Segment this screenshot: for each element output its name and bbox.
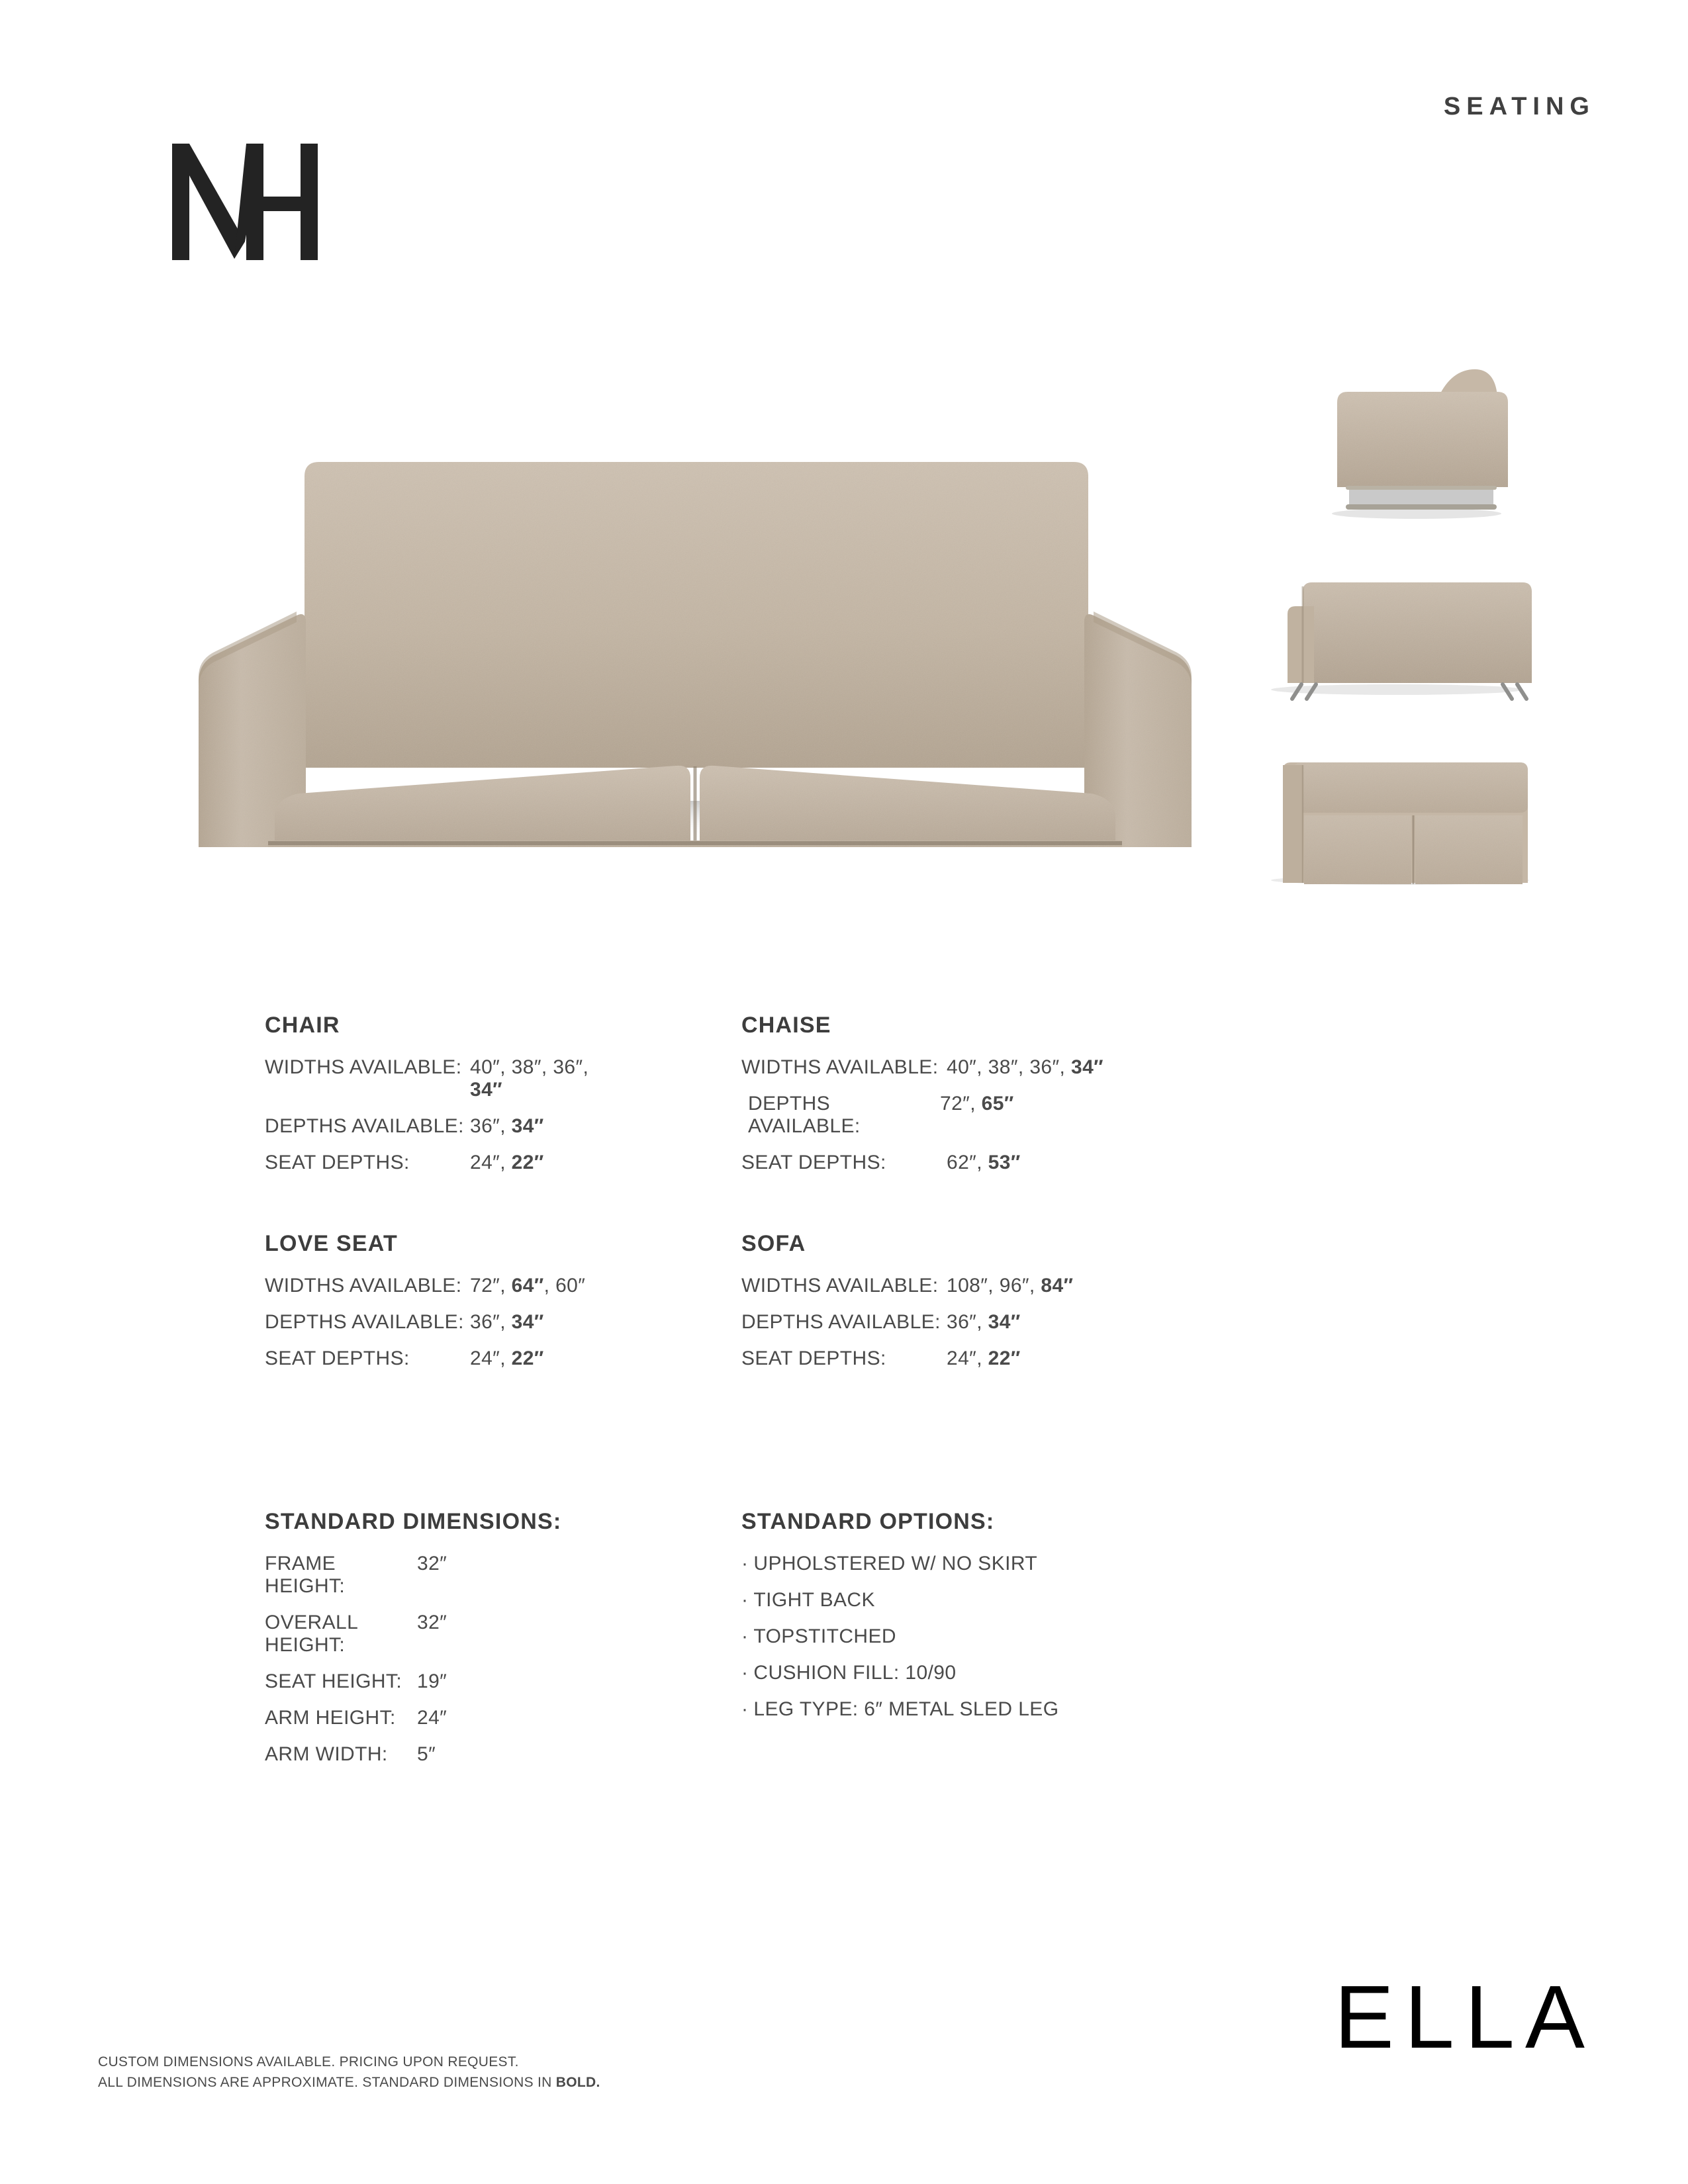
- spec-value: 24″, 22″: [947, 1347, 1021, 1370]
- spec-label: SEAT DEPTHS:: [265, 1347, 470, 1370]
- spec-label: WIDTHS AVAILABLE:: [265, 1275, 470, 1297]
- spec-value: 108″, 96″, 84″: [947, 1275, 1073, 1297]
- thumbnail-top-view: [1244, 721, 1542, 887]
- spec-label: SEAT DEPTHS:: [741, 1347, 947, 1370]
- spec-label: WIDTHS AVAILABLE:: [741, 1056, 947, 1079]
- spec-value: 62″, 53″: [947, 1152, 1021, 1174]
- spec-row: DEPTHS AVAILABLE: 36″, 34″: [265, 1115, 626, 1138]
- spec-label: SEAT DEPTHS:: [265, 1152, 470, 1174]
- spec-label: DEPTHS AVAILABLE:: [265, 1115, 470, 1138]
- dimension-row: SEAT HEIGHT: 19″: [265, 1670, 626, 1693]
- spec-value: 36″, 34″: [470, 1311, 544, 1334]
- spec-row: WIDTHS AVAILABLE: 108″, 96″, 84″: [741, 1275, 1443, 1297]
- option-row: ·TOPSTITCHED: [741, 1625, 1443, 1648]
- spec-row: WIDTHS AVAILABLE: 72″, 64″, 60″: [265, 1275, 626, 1297]
- product-wordmark: ELLA: [1335, 1972, 1595, 2062]
- dimension-value: 24″: [417, 1707, 447, 1729]
- spec-value: 40″, 38″, 36″, 34″: [947, 1056, 1103, 1079]
- spec-value: 72″, 65″: [940, 1093, 1014, 1115]
- disclaimer-text: CUSTOM DIMENSIONS AVAILABLE. PRICING UPO…: [98, 2052, 600, 2093]
- spec-value: 24″, 22″: [470, 1347, 544, 1370]
- spec-label: WIDTHS AVAILABLE:: [741, 1275, 947, 1297]
- hero-product-image: [169, 384, 1228, 847]
- option-label: UPHOLSTERED W/ NO SKIRT: [753, 1553, 1037, 1574]
- bullet-icon: ·: [741, 1662, 748, 1684]
- dimension-label: ARM WIDTH:: [265, 1743, 417, 1766]
- spec-row: SEAT DEPTHS: 62″, 53″: [741, 1152, 1443, 1174]
- spec-block-chair: CHAIR WIDTHS AVAILABLE: 40″, 38″, 36″, 3…: [265, 1013, 626, 1174]
- spec-value: 36″, 34″: [470, 1115, 544, 1138]
- bullet-icon: ·: [741, 1698, 748, 1720]
- thumbnail-side-view: [1251, 331, 1529, 523]
- spec-row: DEPTHS AVAILABLE: 72″, 65″: [741, 1093, 1443, 1138]
- spec-title: SOFA: [741, 1231, 1443, 1257]
- spec-label: DEPTHS AVAILABLE:: [741, 1311, 947, 1334]
- spec-block-sofa: SOFA WIDTHS AVAILABLE: 108″, 96″, 84″ DE…: [741, 1231, 1443, 1370]
- dimension-label: FRAME HEIGHT:: [265, 1553, 417, 1598]
- spec-value: 40″, 38″, 36″, 34″: [470, 1056, 626, 1101]
- spec-row: DEPTHS AVAILABLE: 36″, 34″: [265, 1311, 626, 1334]
- dimension-value: 32″: [417, 1553, 447, 1575]
- lower-section: STANDARD DIMENSIONS: FRAME HEIGHT: 32″ O…: [265, 1509, 1443, 1780]
- spec-title: CHAIR: [265, 1013, 626, 1038]
- spec-row: DEPTHS AVAILABLE: 36″, 34″: [741, 1311, 1443, 1334]
- standard-dimensions-title: STANDARD DIMENSIONS:: [265, 1509, 626, 1535]
- thumbnail-back-view: [1244, 536, 1536, 702]
- specifications-section: CHAIR WIDTHS AVAILABLE: 40″, 38″, 36″, 3…: [265, 1013, 1443, 1370]
- option-row: ·CUSHION FILL: 10/90: [741, 1662, 1443, 1684]
- disclaimer-line-2: ALL DIMENSIONS ARE APPROXIMATE. STANDARD…: [98, 2073, 600, 2093]
- dimension-label: ARM HEIGHT:: [265, 1707, 417, 1729]
- option-row: ·UPHOLSTERED W/ NO SKIRT: [741, 1553, 1443, 1575]
- spec-label: DEPTHS AVAILABLE:: [265, 1311, 470, 1334]
- spec-row: SEAT DEPTHS: 24″, 22″: [741, 1347, 1443, 1370]
- spec-value: 24″, 22″: [470, 1152, 544, 1174]
- option-label: TOPSTITCHED: [753, 1625, 896, 1647]
- option-row: ·LEG TYPE: 6″ METAL SLED LEG: [741, 1698, 1443, 1721]
- option-label: CUSHION FILL: 10/90: [753, 1662, 956, 1684]
- dimension-row: OVERALL HEIGHT: 32″: [265, 1612, 626, 1657]
- dimension-row: FRAME HEIGHT: 32″: [265, 1553, 626, 1598]
- spec-row: WIDTHS AVAILABLE: 40″, 38″, 36″, 34″: [265, 1056, 626, 1101]
- option-label: LEG TYPE: 6″ METAL SLED LEG: [753, 1698, 1058, 1720]
- spec-block-love-seat: LOVE SEAT WIDTHS AVAILABLE: 72″, 64″, 60…: [265, 1231, 626, 1370]
- spec-title: LOVE SEAT: [265, 1231, 626, 1257]
- dimension-value: 32″: [417, 1612, 447, 1634]
- spec-value: 36″, 34″: [947, 1311, 1021, 1334]
- bullet-icon: ·: [741, 1625, 748, 1647]
- spec-label: WIDTHS AVAILABLE:: [265, 1056, 470, 1079]
- option-label: TIGHT BACK: [753, 1589, 874, 1611]
- spec-label: DEPTHS AVAILABLE:: [741, 1093, 940, 1138]
- dimension-row: ARM HEIGHT: 24″: [265, 1707, 626, 1729]
- spec-value: 72″, 64″, 60″: [470, 1275, 585, 1297]
- spec-row: SEAT DEPTHS: 24″, 22″: [265, 1347, 626, 1370]
- standard-options-title: STANDARD OPTIONS:: [741, 1509, 1443, 1535]
- option-row: ·TIGHT BACK: [741, 1589, 1443, 1612]
- dimension-label: SEAT HEIGHT:: [265, 1670, 417, 1693]
- dimension-value: 5″: [417, 1743, 436, 1766]
- dimension-label: OVERALL HEIGHT:: [265, 1612, 417, 1657]
- spec-row: SEAT DEPTHS: 24″, 22″: [265, 1152, 626, 1174]
- bullet-icon: ·: [741, 1553, 748, 1574]
- spec-block-chaise: CHAISE WIDTHS AVAILABLE: 40″, 38″, 36″, …: [741, 1013, 1443, 1174]
- bullet-icon: ·: [741, 1589, 748, 1611]
- spec-title: CHAISE: [741, 1013, 1443, 1038]
- page-category-label: SEATING: [1444, 93, 1595, 121]
- standard-dimensions-block: STANDARD DIMENSIONS: FRAME HEIGHT: 32″ O…: [265, 1509, 626, 1780]
- dimension-row: ARM WIDTH: 5″: [265, 1743, 626, 1766]
- disclaimer-line-1: CUSTOM DIMENSIONS AVAILABLE. PRICING UPO…: [98, 2052, 600, 2072]
- dimension-value: 19″: [417, 1670, 447, 1693]
- standard-options-block: STANDARD OPTIONS: ·UPHOLSTERED W/ NO SKI…: [741, 1509, 1443, 1780]
- spec-row: WIDTHS AVAILABLE: 40″, 38″, 36″, 34″: [741, 1056, 1443, 1079]
- spec-label: SEAT DEPTHS:: [741, 1152, 947, 1174]
- mh-logo: [171, 142, 350, 261]
